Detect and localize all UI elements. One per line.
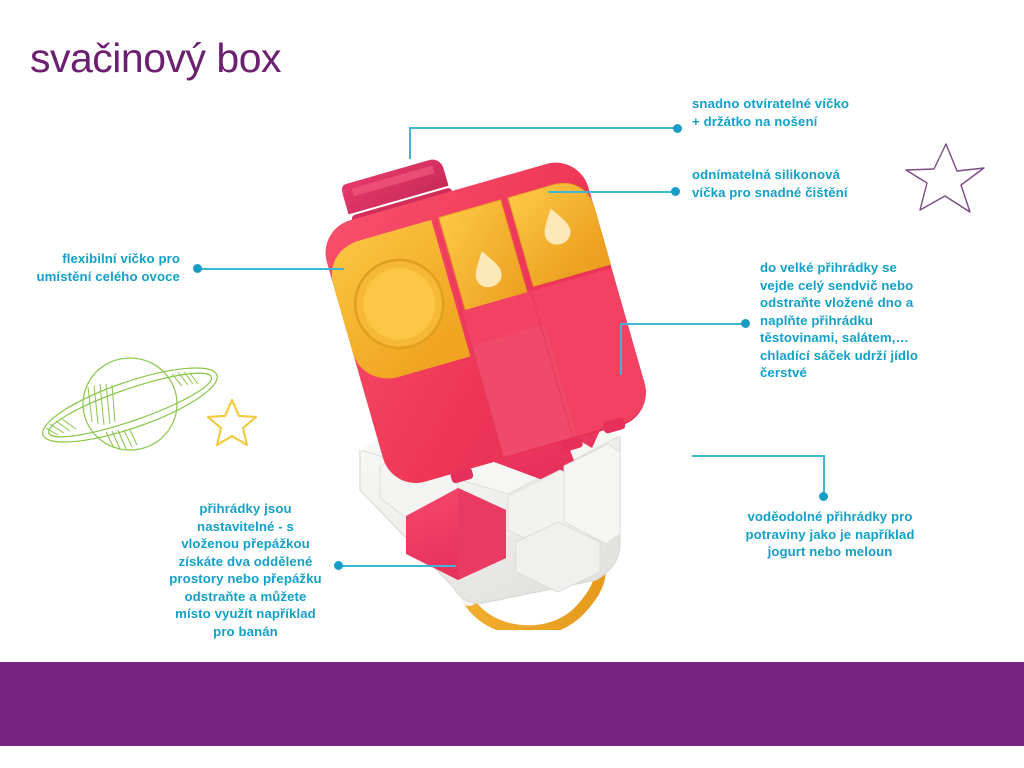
planet-saturn-sketch-icon [32, 352, 222, 462]
star-yellow-outline-icon [205, 396, 259, 450]
leader-line-3-vertical [620, 323, 622, 375]
callout-waterproof-compartments: voděodolné přihrádky pro potraviny jako … [740, 508, 920, 561]
leader-dot-5 [193, 264, 202, 273]
callout-easy-open-lid: snadno otvíratelné víčko + držátko na no… [692, 95, 852, 130]
leader-line-3-horizontal [620, 323, 745, 325]
leader-dot-2 [671, 187, 680, 196]
page-title: svačinový box [30, 36, 281, 81]
leader-line-1-horizontal [409, 127, 677, 129]
lunchbox-illustration [320, 130, 720, 630]
leader-dot-3 [741, 319, 750, 328]
callout-large-compartment: do velké přihrádky se vejde celý sendvič… [760, 259, 928, 382]
leader-line-1-vertical [409, 127, 411, 159]
callout-flexible-fruit-lid: flexibilní víčko pro umístění celého ovo… [18, 250, 180, 285]
callout-adjustable-compartments: přihrádky jsou nastavitelné - s vloženou… [168, 500, 323, 640]
leader-dot-4 [819, 492, 828, 501]
callout-removable-silicone-lids: odnímatelná silikonová víčka pro snadné … [692, 166, 857, 201]
leader-line-4-vertical [823, 455, 825, 496]
footer-band: b.box® nádobí pro děti [0, 662, 1024, 746]
leader-line-2-horizontal [548, 191, 674, 193]
leader-line-5-horizontal [198, 268, 344, 270]
infographic-page: svačinový box [0, 0, 1024, 768]
leader-line-6-horizontal [340, 565, 456, 567]
leader-dot-1 [673, 124, 682, 133]
leader-line-4-horizontal [692, 455, 825, 457]
star-purple-outline-icon [900, 138, 990, 218]
leader-dot-6 [334, 561, 343, 570]
